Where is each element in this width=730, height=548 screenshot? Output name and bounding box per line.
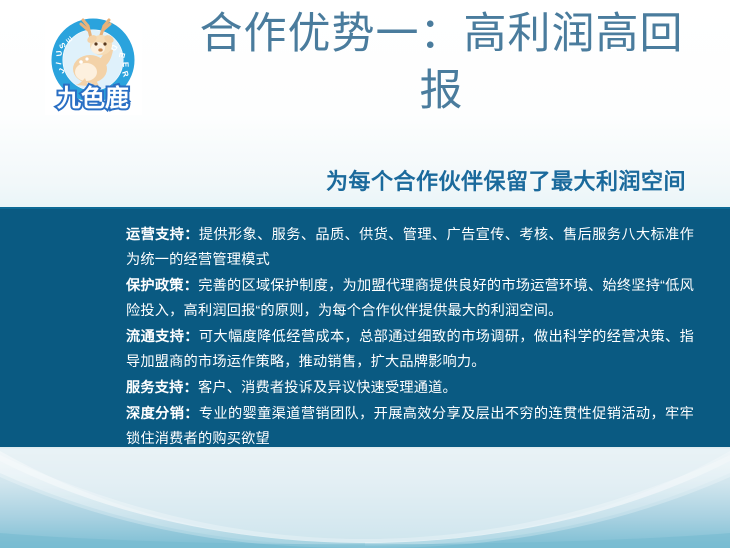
list-item-lead: 服务支持：: [126, 380, 198, 396]
brand-logo: J I U S E D E E R: [45, 12, 142, 115]
footer-decoration: [0, 447, 730, 548]
list-item-text: 可大幅度降低经营成本，总部通过细致的市场调研，做出科学的经营决策、指导加盟商的市…: [126, 329, 694, 370]
page-subtitle: 为每个合作伙伴保留了最大利润空间: [326, 164, 686, 196]
support-item-list: 运营支持：提供形象、服务、品质、供货、管理、广告宣传、考核、售后服务八大标准作为…: [126, 223, 694, 453]
list-item: 保护政策：完善的区域保护制度，为加盟代理商提供良好的市场运营环境、始终坚持“低风…: [126, 274, 694, 324]
list-item-lead: 运营支持：: [126, 227, 199, 243]
list-item-text: 完善的区域保护制度，为加盟代理商提供良好的市场运营环境、始终坚持“低风险投入，高…: [126, 278, 694, 319]
footer-swoosh-graphic: [0, 447, 730, 548]
list-item: 运营支持：提供形象、服务、品质、供货、管理、广告宣传、考核、售后服务八大标准作为…: [126, 223, 694, 273]
list-item: 服务支持：客户、消费者投诉及异议快速受理通道。: [126, 376, 694, 401]
list-item-text: 提供形象、服务、品质、供货、管理、广告宣传、考核、售后服务八大标准作为统一的经营…: [126, 227, 694, 268]
list-item-lead: 深度分销：: [126, 406, 199, 422]
list-item-text: 专业的婴童渠道营销团队，开展高效分享及层出不穷的连贯性促销活动，牢牢锁住消费者的…: [126, 406, 694, 447]
page-title: 合作优势一：高利润高回 报: [165, 6, 718, 120]
list-item-lead: 流通支持：: [126, 329, 199, 345]
list-item-lead: 保护政策：: [126, 278, 198, 294]
list-item: 深度分销：专业的婴童渠道营销团队，开展高效分享及层出不穷的连贯性促销活动，牢牢锁…: [126, 402, 694, 452]
list-item: 流通支持：可大幅度降低经营成本，总部通过细致的市场调研，做出科学的经营决策、指导…: [126, 325, 694, 375]
deer-logo-icon: J I U S E D E E R: [45, 12, 142, 115]
slide-header: J I U S E D E E R: [0, 0, 730, 207]
list-item-text: 客户、消费者投诉及异议快速受理通道。: [198, 380, 457, 396]
svg-text:E: E: [121, 62, 130, 68]
svg-text:九色鹿: 九色鹿: [56, 84, 129, 112]
presentation-slide: J I U S E D E E R: [0, 0, 730, 548]
content-panel: 运营支持：提供形象、服务、品质、供货、管理、广告宣传、考核、售后服务八大标准作为…: [0, 207, 730, 447]
